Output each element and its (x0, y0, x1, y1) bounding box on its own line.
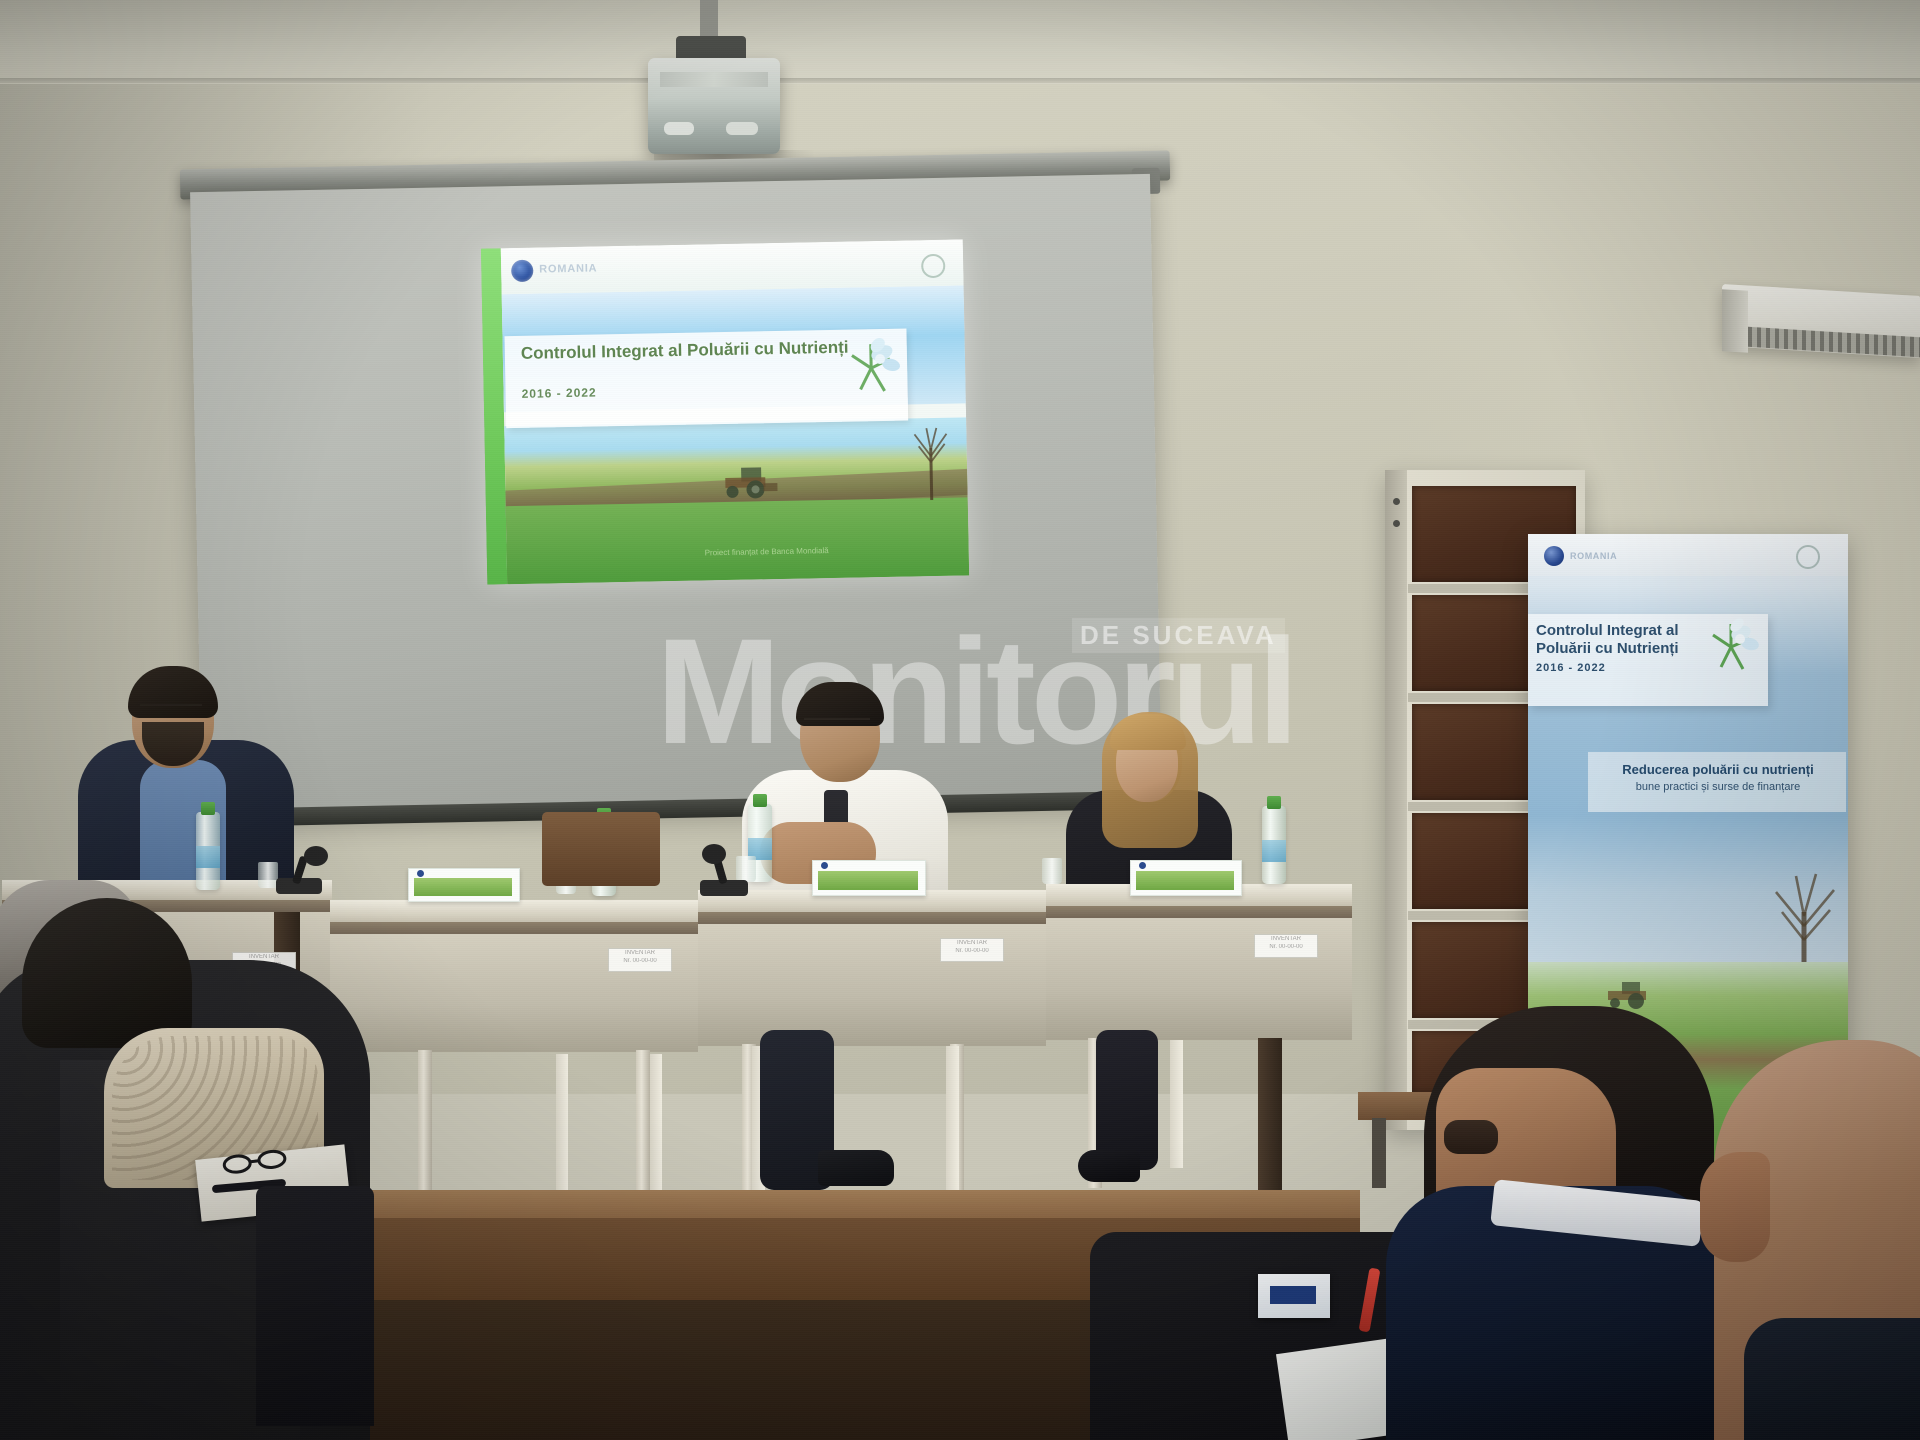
audience-far-right-man-ear (1700, 1152, 1770, 1262)
slide-logo-label: ROMANIA (539, 262, 597, 275)
slide-grass (506, 497, 969, 584)
nameplate-left-logo-icon (417, 870, 424, 877)
drinking-glass (258, 862, 278, 888)
desk-label-line1: INVENTAR (609, 949, 671, 957)
audience-chair-back[interactable] (256, 1186, 374, 1426)
water-bottle-cap (201, 802, 215, 815)
panel-table-mid1-leg (418, 1050, 432, 1210)
air-conditioner-side (1722, 289, 1748, 353)
panel-table-right-leg (1258, 1038, 1282, 1208)
tractor-icon (715, 465, 780, 500)
audience-right-man-mustache (1444, 1120, 1498, 1154)
water-bottle-label (196, 846, 220, 868)
desk-label-line2: Nr. 00-00-00 (609, 957, 671, 965)
cabinet-knob-icon[interactable] (1393, 520, 1400, 527)
drinking-glass (736, 856, 756, 882)
desk-label: INVENTAR Nr. 00-00-00 (608, 948, 672, 972)
flower-logo-icon (838, 335, 905, 402)
speaker-left-glasses-icon (140, 704, 202, 717)
banner-subtitle-line1: Reducerea poluării cu nutrienți (1596, 762, 1840, 777)
chair-leg (650, 1054, 662, 1200)
desk-label-line2: Nr. 00-00-00 (1255, 943, 1317, 951)
nameplate-left-strip (414, 878, 512, 896)
handout-leaflet-logo-icon (1270, 1286, 1316, 1304)
banner-logo-icon (1544, 546, 1564, 566)
drinking-glass (1042, 858, 1062, 884)
chair-leg (556, 1054, 568, 1204)
cabinet-side-panel (1385, 470, 1407, 1130)
desk-label-line1: INVENTAR (1255, 935, 1317, 943)
water-bottle-label (1262, 840, 1286, 862)
nameplate-right-logo-icon (1139, 862, 1146, 869)
microphone-icon (702, 844, 726, 864)
banner-flower-logo-icon (1700, 616, 1762, 678)
projector-lens-secondary (726, 122, 758, 135)
nameplate-center-logo-icon (821, 862, 828, 869)
conference-photo: Controlul Integrat al Poluării cu Nutrie… (0, 0, 1920, 1440)
speaker-right-hair-front (1110, 714, 1186, 750)
banner-tractor-icon (1600, 980, 1658, 1010)
speaker-center-glasses-icon (804, 718, 870, 731)
ceiling (0, 0, 1920, 86)
desk-label-line2: Nr. 00-00-00 (941, 947, 1003, 955)
slide-years: 2016 - 2022 (521, 385, 596, 400)
audience-far-right-man-shoulder (1744, 1318, 1920, 1440)
cabinet-knob-icon[interactable] (1393, 498, 1400, 505)
speaker-right-shoe (1078, 1150, 1140, 1182)
banner-title: Controlul Integrat al Poluării cu Nutrie… (1536, 622, 1716, 658)
projected-slide: Controlul Integrat al Poluării cu Nutrie… (481, 239, 969, 584)
nameplate-right-strip (1136, 871, 1234, 890)
banner-logo-label: ROMANIA (1570, 551, 1617, 561)
panel-table-mid1-leg (636, 1050, 650, 1200)
banner-secondary-logo-icon (1796, 545, 1820, 569)
nameplate-center-strip (818, 871, 918, 890)
chair-back[interactable] (542, 812, 660, 886)
speaker-center-shoe (818, 1150, 894, 1186)
banner-years: 2016 - 2022 (1536, 662, 1606, 674)
projector-lens (664, 122, 694, 135)
water-bottle-cap (1267, 796, 1281, 809)
chair-leg (946, 1046, 959, 1196)
chair-leg (1170, 1040, 1183, 1168)
speaker-right-legs (1096, 1030, 1158, 1170)
tree-icon (902, 422, 959, 501)
desk-label: INVENTAR Nr. 00-00-00 (1254, 934, 1318, 958)
desk-label-line1: INVENTAR (941, 939, 1003, 947)
water-bottle-cap (753, 794, 767, 807)
ceiling-seam (0, 78, 1920, 83)
microphone-icon (304, 846, 328, 866)
projector-vent (660, 72, 768, 87)
banner-subtitle-line2: bune practici și surse de finanțare (1596, 781, 1840, 793)
cabinet-leg (1372, 1118, 1386, 1188)
desk-label: INVENTAR Nr. 00-00-00 (940, 938, 1004, 962)
